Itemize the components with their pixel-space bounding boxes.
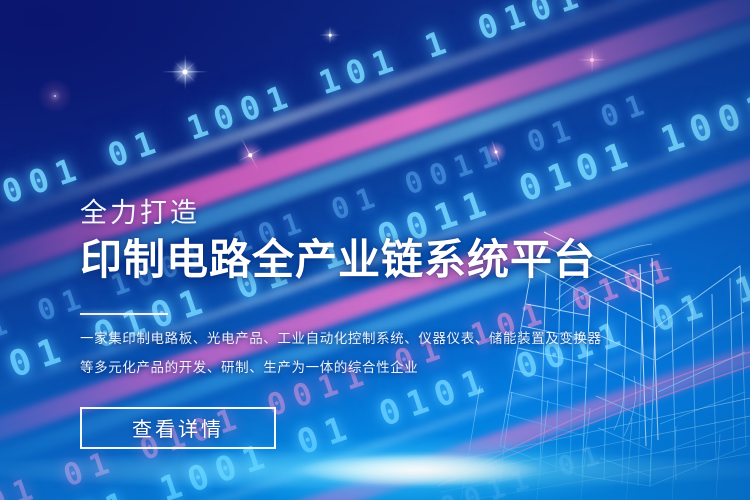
description-line: 一家集印制电路板、光电产品、工业自动化控制系统、仪器仪表、储能装置及变换器 [80,327,600,350]
view-details-button[interactable]: 查看详情 [80,407,276,449]
page-title: 印制电路全产业链系统平台 [80,235,600,285]
title-divider [80,313,168,315]
hero-banner: 01 001 01 1001 101 1 0101 01 0101 01 100… [0,0,750,500]
hero-eyebrow: 全力打造 [80,196,600,230]
hero-description: 一家集印制电路板、光电产品、工业自动化控制系统、仪器仪表、储能装置及变换器 等多… [80,327,600,379]
hero-content: 全力打造 印制电路全产业链系统平台 一家集印制电路板、光电产品、工业自动化控制系… [80,196,600,449]
description-line: 等多元化产品的开发、研制、生产为一体的综合性企业 [80,356,600,379]
